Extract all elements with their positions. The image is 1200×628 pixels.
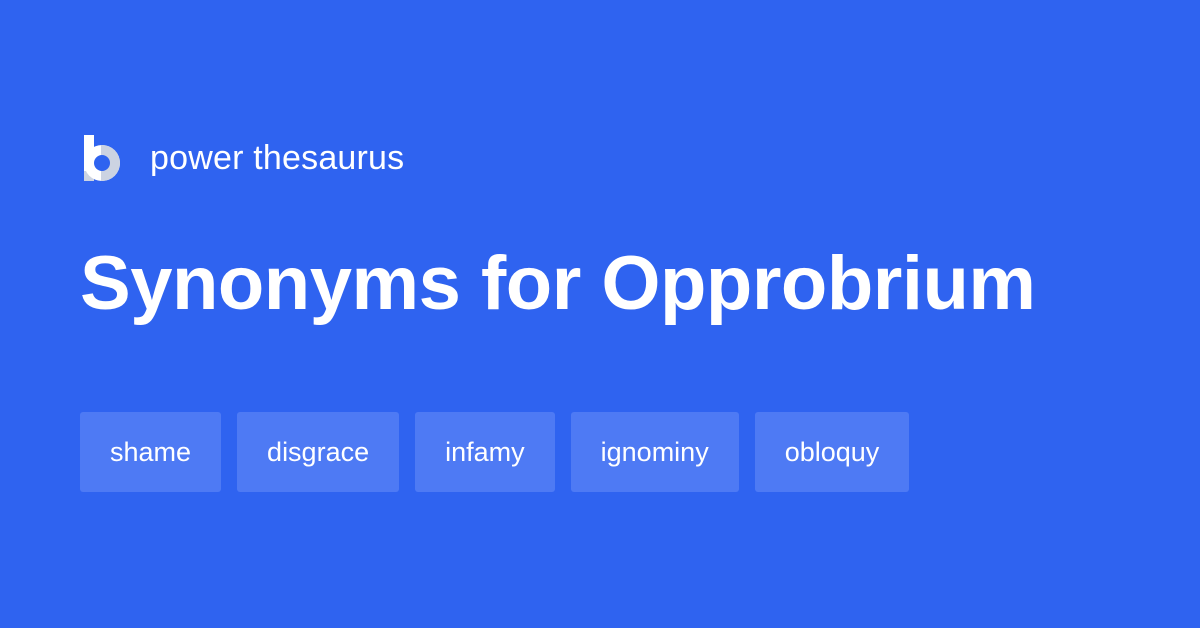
brand-name: power thesaurus bbox=[150, 141, 404, 175]
synonym-chip-list: shame disgrace infamy ignominy obloquy bbox=[80, 412, 909, 492]
synonym-chip[interactable]: shame bbox=[80, 412, 221, 492]
synonym-chip[interactable]: ignominy bbox=[571, 412, 739, 492]
power-thesaurus-b-logo-icon bbox=[80, 133, 122, 183]
synonym-chip[interactable]: disgrace bbox=[237, 412, 399, 492]
page-title: Synonyms for Opprobrium bbox=[80, 246, 1035, 322]
social-share-card: power thesaurus Synonyms for Opprobrium … bbox=[0, 0, 1200, 628]
synonym-chip[interactable]: obloquy bbox=[755, 412, 910, 492]
synonym-chip[interactable]: infamy bbox=[415, 412, 555, 492]
brand-header[interactable]: power thesaurus bbox=[80, 130, 404, 186]
